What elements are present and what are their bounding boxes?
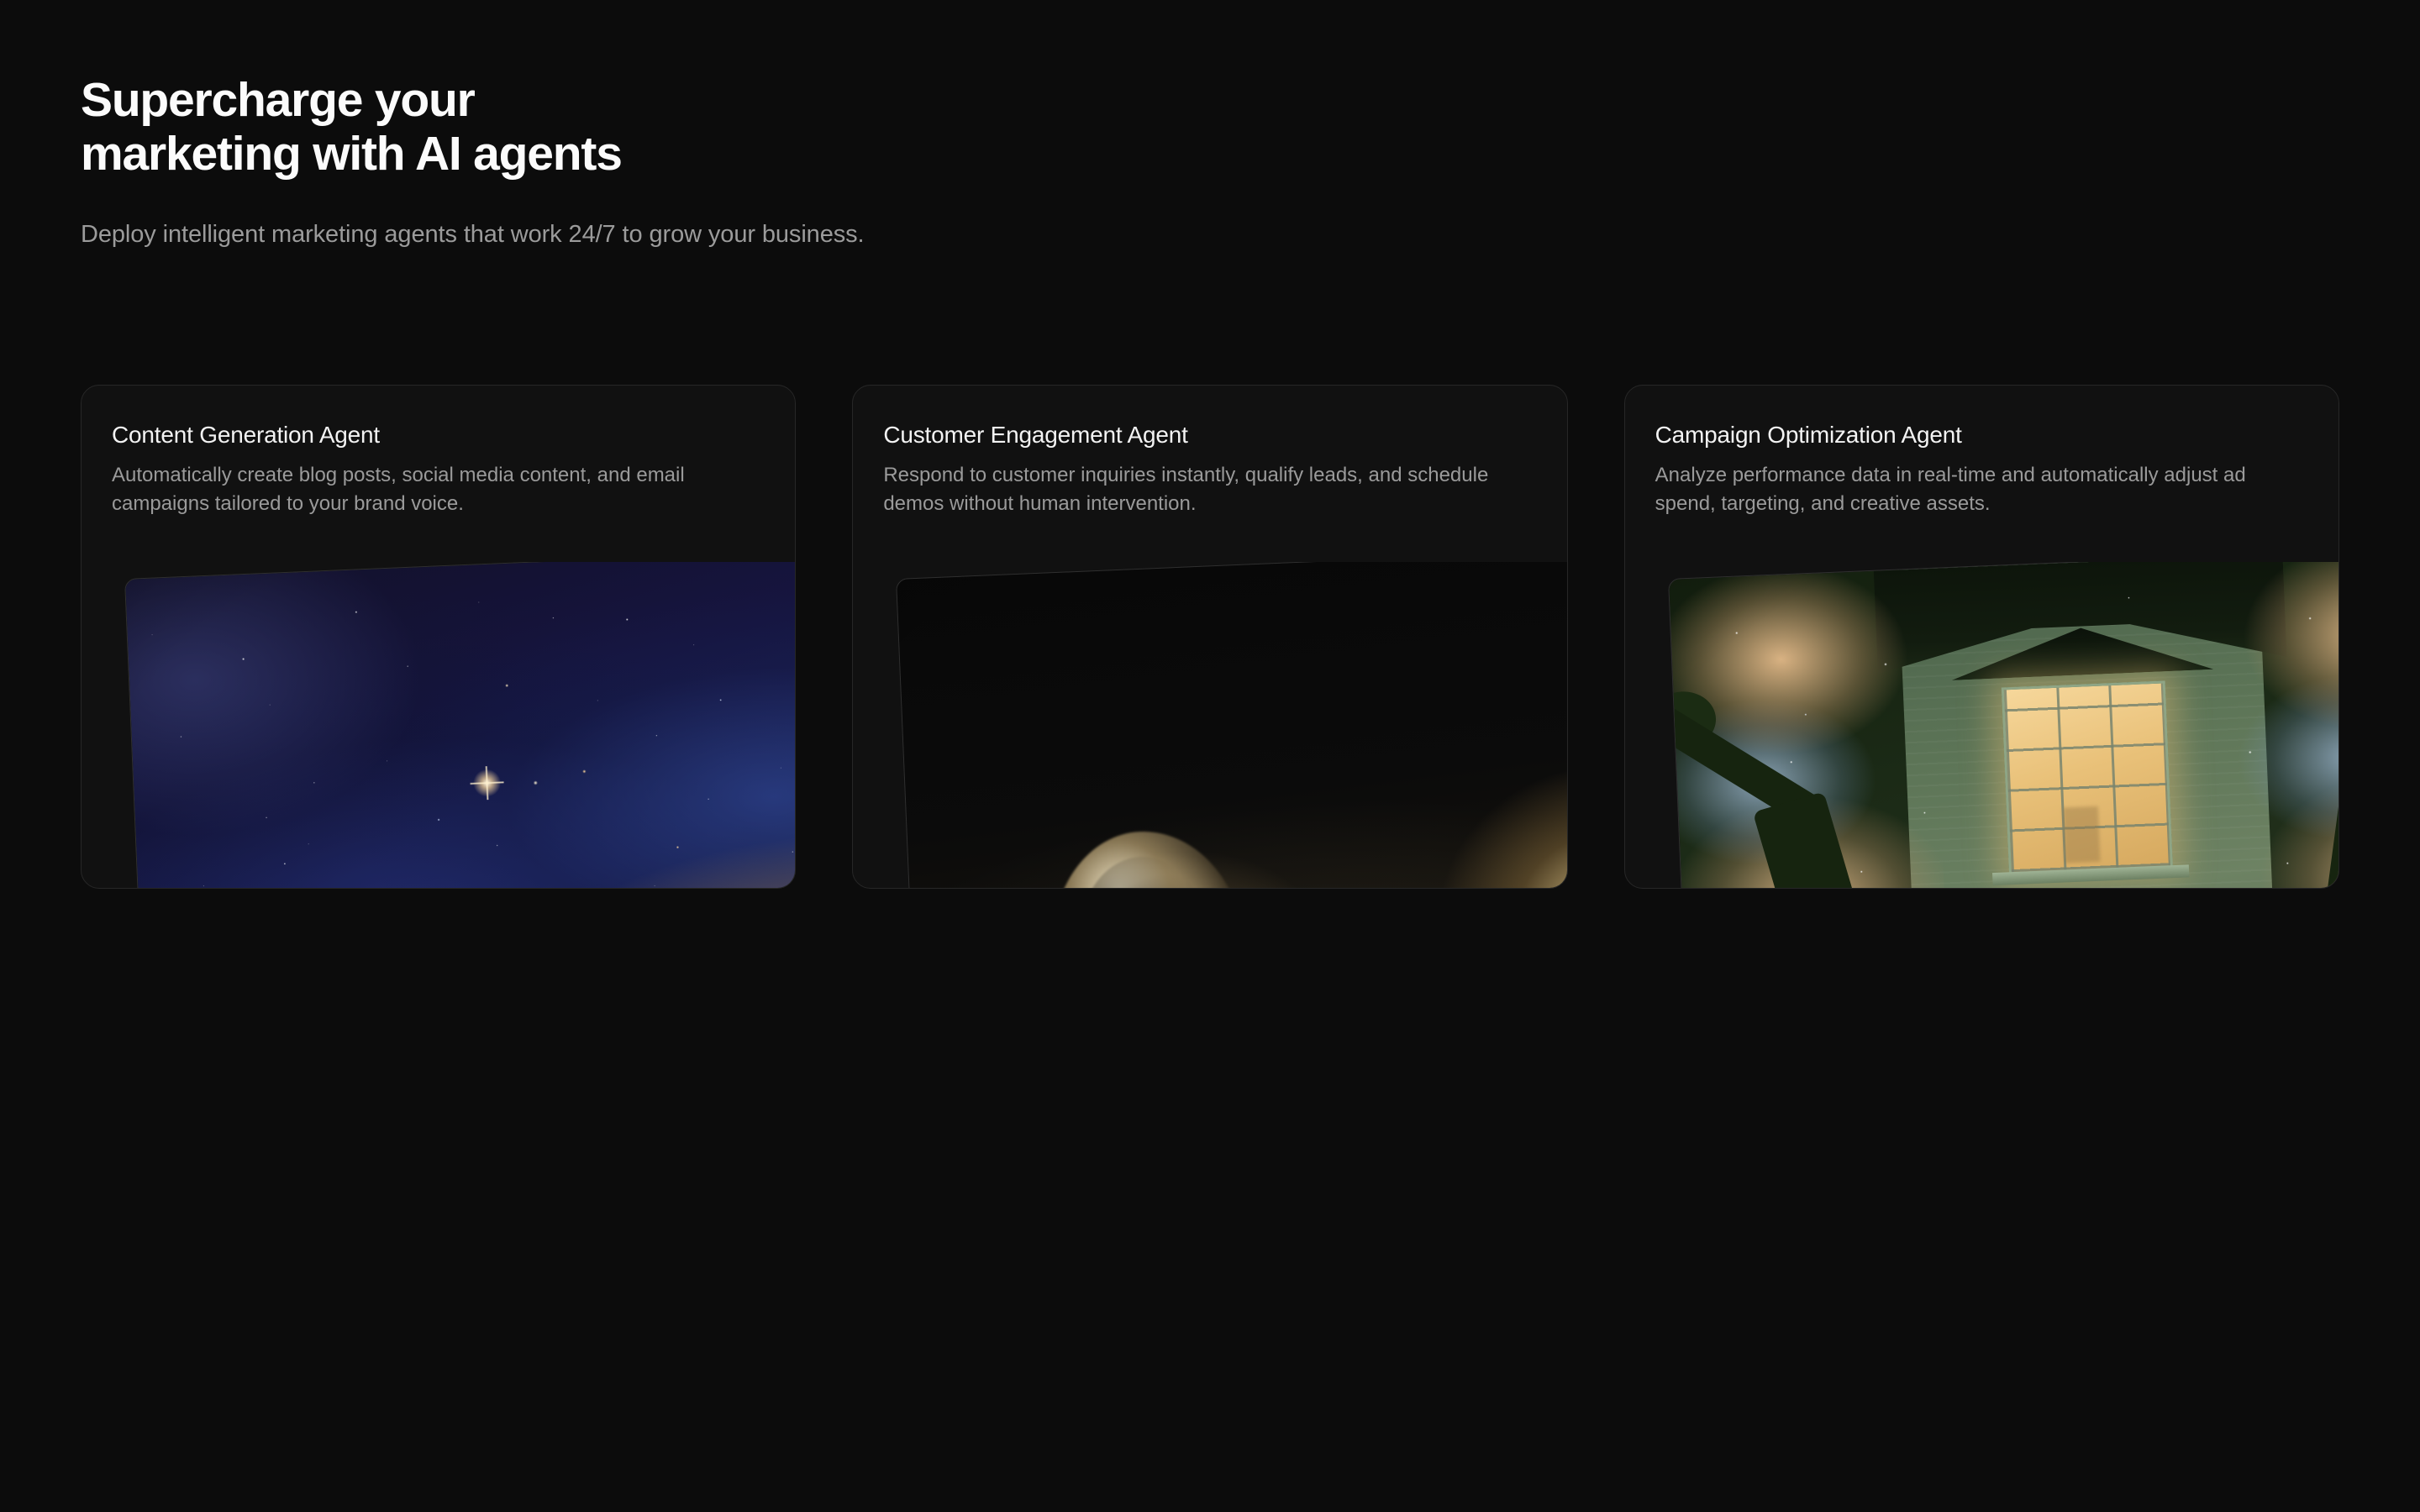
card-header: Customer Engagement Agent Respond to cus… xyxy=(853,386,1566,518)
media-vignette xyxy=(125,562,795,888)
card-title: Customer Engagement Agent xyxy=(883,421,1536,449)
card-title: Content Generation Agent xyxy=(112,421,765,449)
card-header: Content Generation Agent Automatically c… xyxy=(82,386,795,518)
card-media-wrapper xyxy=(853,562,1566,888)
card-header: Campaign Optimization Agent Analyze perf… xyxy=(1625,386,2338,518)
agent-card-customer-engagement[interactable]: Customer Engagement Agent Respond to cus… xyxy=(852,385,1567,889)
agent-card-campaign-optimization[interactable]: Campaign Optimization Agent Analyze perf… xyxy=(1624,385,2339,889)
hero-section: Supercharge your marketing with AI agent… xyxy=(81,74,1425,251)
golden-glow-figure-image xyxy=(896,562,1566,888)
page-title: Supercharge your marketing with AI agent… xyxy=(81,74,1425,181)
card-description: Respond to customer inquiries instantly,… xyxy=(883,461,1522,518)
card-media-wrapper xyxy=(82,562,795,888)
card-title: Campaign Optimization Agent xyxy=(1655,421,2308,449)
agent-card-grid: Content Generation Agent Automatically c… xyxy=(81,385,2339,889)
media-vignette xyxy=(1669,562,2338,888)
starfield-nebula-image xyxy=(124,562,795,888)
card-media-wrapper xyxy=(1625,562,2338,888)
house-robot-arms-sparkle-image xyxy=(1668,562,2338,888)
card-description: Analyze performance data in real-time an… xyxy=(1655,461,2294,518)
media-vignette xyxy=(897,562,1566,888)
landing-page: Supercharge your marketing with AI agent… xyxy=(0,0,2420,1512)
card-description: Automatically create blog posts, social … xyxy=(112,461,750,518)
agent-card-content-generation[interactable]: Content Generation Agent Automatically c… xyxy=(81,385,796,889)
page-subtitle: Deploy intelligent marketing agents that… xyxy=(81,218,1425,251)
